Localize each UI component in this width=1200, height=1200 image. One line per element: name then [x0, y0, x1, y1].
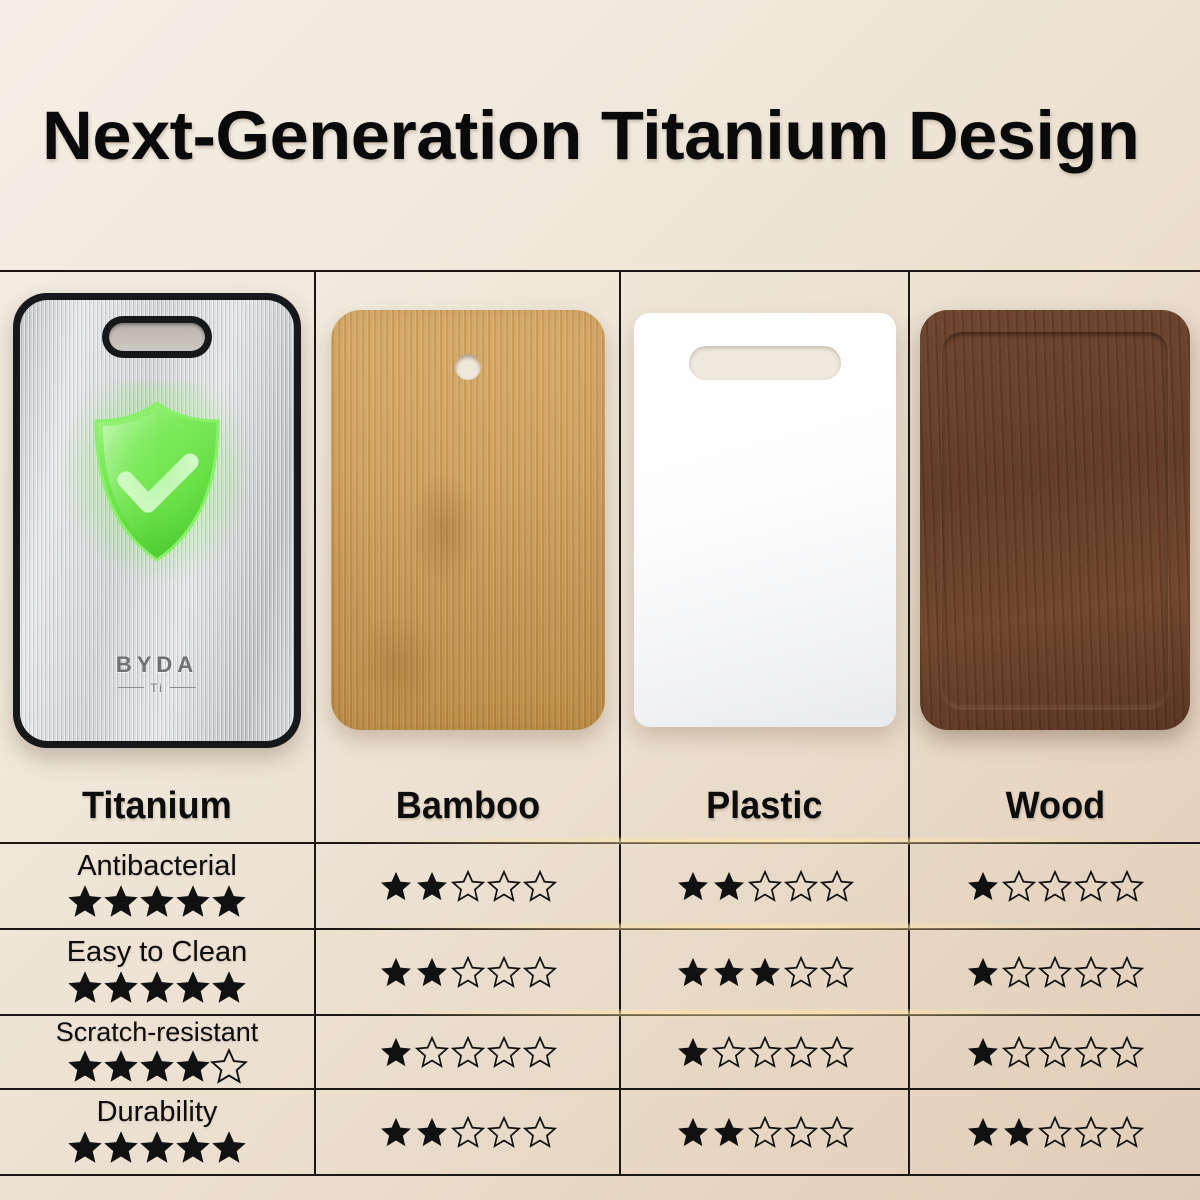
- star-icon: [1038, 955, 1072, 989]
- rating-wood: [965, 1115, 1145, 1149]
- rating-wood: [965, 955, 1145, 989]
- star-icon: [676, 955, 710, 989]
- star-icon: [1110, 1035, 1144, 1069]
- star-icon: [66, 1128, 104, 1166]
- star-icon: [1074, 1115, 1108, 1149]
- star-icon: [138, 882, 176, 920]
- star-icon: [966, 1115, 1000, 1149]
- star-icon: [820, 1115, 854, 1149]
- feature-cell-titanium: Easy to Clean: [0, 930, 314, 1014]
- rating-titanium: [67, 882, 247, 920]
- rating-plastic: [675, 1115, 855, 1149]
- rating-cell-plastic: [621, 1016, 908, 1088]
- star-icon: [379, 1115, 413, 1149]
- star-icon: [1002, 955, 1036, 989]
- rating-cell-bamboo: [316, 1090, 619, 1174]
- star-icon: [66, 882, 104, 920]
- rating-cell-wood: [910, 1090, 1200, 1174]
- product-cell-titanium: BYDA Ti: [0, 270, 314, 770]
- rating-cell-wood: [910, 1016, 1200, 1088]
- rating-cell-bamboo: [316, 1016, 619, 1088]
- rating-cell-plastic: [621, 844, 908, 928]
- feature-cell-titanium: Scratch-resistant: [0, 1016, 314, 1088]
- star-icon: [820, 869, 854, 903]
- column-header-wood: Wood: [910, 770, 1200, 842]
- star-icon: [102, 968, 140, 1006]
- star-icon: [712, 1035, 746, 1069]
- rating-plastic: [675, 869, 855, 903]
- column-header-titanium: Titanium: [0, 770, 314, 842]
- product-cell-wood: [910, 270, 1200, 770]
- star-icon: [676, 869, 710, 903]
- star-icon: [487, 1035, 521, 1069]
- handle-slot: [102, 316, 212, 358]
- star-icon: [415, 1035, 449, 1069]
- star-icon: [748, 955, 782, 989]
- star-icon: [676, 1115, 710, 1149]
- star-icon: [1074, 1035, 1108, 1069]
- header: Next-Generation Titanium Design: [0, 0, 1200, 270]
- star-icon: [487, 869, 521, 903]
- column-label: Bamboo: [395, 785, 539, 828]
- brand-name: BYDA: [20, 652, 294, 678]
- star-icon: [712, 955, 746, 989]
- star-icon: [66, 1047, 104, 1085]
- star-icon: [1002, 1115, 1036, 1149]
- column-header-row: Titanium Bamboo Plastic Wood: [0, 770, 1200, 842]
- product-cell-bamboo: [316, 270, 619, 770]
- star-icon: [451, 955, 485, 989]
- column-label: Plastic: [706, 785, 822, 828]
- rating-cell-wood: [910, 930, 1200, 1014]
- star-icon: [138, 1047, 176, 1085]
- star-icon: [102, 1128, 140, 1166]
- table-border-bottom: [0, 1174, 1200, 1176]
- rating-bamboo: [378, 869, 558, 903]
- rating-cell-wood: [910, 844, 1200, 928]
- star-icon: [712, 869, 746, 903]
- rating-wood: [965, 1035, 1145, 1069]
- star-icon: [379, 955, 413, 989]
- rating-titanium: [67, 968, 247, 1006]
- star-icon: [102, 1047, 140, 1085]
- star-icon: [1110, 955, 1144, 989]
- feature-cell-titanium: Durability: [0, 1090, 314, 1174]
- juice-groove: [942, 332, 1168, 708]
- brand-sub: Ti: [20, 681, 294, 695]
- star-icon: [966, 955, 1000, 989]
- star-icon: [66, 968, 104, 1006]
- column-header-bamboo: Bamboo: [316, 770, 619, 842]
- brand-mark: BYDA Ti: [20, 652, 294, 695]
- plastic-cutting-board-icon: [634, 313, 896, 727]
- star-icon: [451, 869, 485, 903]
- star-icon: [102, 882, 140, 920]
- star-icon: [174, 1047, 212, 1085]
- table-row: Durability: [0, 1090, 1200, 1174]
- table-row: Antibacterial: [0, 844, 1200, 928]
- star-icon: [784, 1115, 818, 1149]
- star-icon: [748, 1115, 782, 1149]
- star-icon: [379, 1035, 413, 1069]
- star-icon: [1038, 869, 1072, 903]
- star-icon: [415, 955, 449, 989]
- product-image-row: BYDA Ti: [0, 270, 1200, 770]
- star-icon: [523, 1115, 557, 1149]
- star-icon: [1110, 1115, 1144, 1149]
- star-icon: [210, 1128, 248, 1166]
- page-title: Next-Generation Titanium Design: [42, 101, 1139, 170]
- rating-cell-bamboo: [316, 844, 619, 928]
- rating-cell-plastic: [621, 1090, 908, 1174]
- star-icon: [1038, 1115, 1072, 1149]
- star-icon: [712, 1115, 746, 1149]
- rating-cell-bamboo: [316, 930, 619, 1014]
- star-icon: [487, 1115, 521, 1149]
- rating-titanium: [67, 1128, 247, 1166]
- star-icon: [210, 968, 248, 1006]
- feature-label: Scratch-resistant: [56, 1019, 259, 1047]
- feature-label: Easy to Clean: [67, 938, 248, 968]
- rating-titanium: [67, 1047, 247, 1085]
- star-icon: [210, 1047, 248, 1085]
- star-icon: [1074, 955, 1108, 989]
- table-row: Easy to Clean: [0, 930, 1200, 1014]
- star-icon: [966, 869, 1000, 903]
- column-header-plastic: Plastic: [621, 770, 908, 842]
- star-icon: [820, 1035, 854, 1069]
- product-cell-plastic: [621, 270, 908, 770]
- star-icon: [174, 1128, 212, 1166]
- comparison-table: BYDA Ti: [0, 270, 1200, 1176]
- rating-bamboo: [378, 1035, 558, 1069]
- star-icon: [138, 1128, 176, 1166]
- rating-plastic: [675, 1035, 855, 1069]
- star-icon: [748, 1035, 782, 1069]
- star-icon: [784, 955, 818, 989]
- star-icon: [379, 869, 413, 903]
- feature-cell-titanium: Antibacterial: [0, 844, 314, 928]
- star-icon: [784, 1035, 818, 1069]
- star-icon: [1002, 1035, 1036, 1069]
- star-icon: [210, 882, 248, 920]
- wood-cutting-board-icon: [920, 310, 1190, 730]
- titanium-cutting-board-icon: BYDA Ti: [13, 293, 301, 748]
- rating-bamboo: [378, 1115, 558, 1149]
- feature-label: Durability: [97, 1098, 218, 1128]
- star-icon: [415, 869, 449, 903]
- star-icon: [1110, 869, 1144, 903]
- rating-plastic: [675, 955, 855, 989]
- star-icon: [820, 955, 854, 989]
- star-icon: [451, 1115, 485, 1149]
- star-icon: [966, 1035, 1000, 1069]
- bamboo-cutting-board-icon: [331, 310, 605, 730]
- star-icon: [174, 882, 212, 920]
- star-icon: [1074, 869, 1108, 903]
- table-row: Scratch-resistant: [0, 1016, 1200, 1088]
- handle-slot: [689, 346, 841, 380]
- star-icon: [138, 968, 176, 1006]
- star-icon: [451, 1035, 485, 1069]
- star-icon: [748, 869, 782, 903]
- star-icon: [174, 968, 212, 1006]
- rating-bamboo: [378, 955, 558, 989]
- star-icon: [415, 1115, 449, 1149]
- hanging-hole: [455, 354, 481, 380]
- rating-cell-plastic: [621, 930, 908, 1014]
- column-label: Wood: [1005, 785, 1105, 828]
- column-label: Titanium: [82, 785, 232, 828]
- feature-label: Antibacterial: [77, 852, 237, 882]
- star-icon: [523, 955, 557, 989]
- rating-wood: [965, 869, 1145, 903]
- star-icon: [1038, 1035, 1072, 1069]
- star-icon: [1002, 869, 1036, 903]
- star-icon: [523, 1035, 557, 1069]
- star-icon: [676, 1035, 710, 1069]
- star-icon: [523, 869, 557, 903]
- green-shield-check-icon: [57, 378, 257, 588]
- star-icon: [784, 869, 818, 903]
- star-icon: [487, 955, 521, 989]
